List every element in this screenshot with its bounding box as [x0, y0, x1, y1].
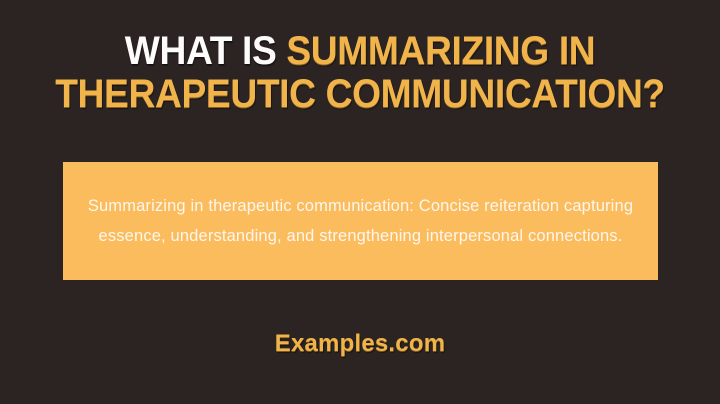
title-line-1-white-segment: WHAT IS [125, 29, 287, 73]
title-line-1: WHAT IS SUMMARIZING IN [25, 30, 695, 73]
page-title: WHAT IS SUMMARIZING IN THERAPEUTIC COMMU… [0, 30, 720, 116]
brand-footer: Examples.com [0, 329, 720, 359]
description-text: Summarizing in therapeutic communication… [77, 191, 645, 251]
title-line-2: THERAPEUTIC COMMUNICATION? [25, 73, 695, 116]
description-card: Summarizing in therapeutic communication… [63, 162, 658, 280]
slide-canvas: WHAT IS SUMMARIZING IN THERAPEUTIC COMMU… [0, 0, 720, 404]
title-line-1-gold-segment: SUMMARIZING IN [286, 29, 595, 73]
